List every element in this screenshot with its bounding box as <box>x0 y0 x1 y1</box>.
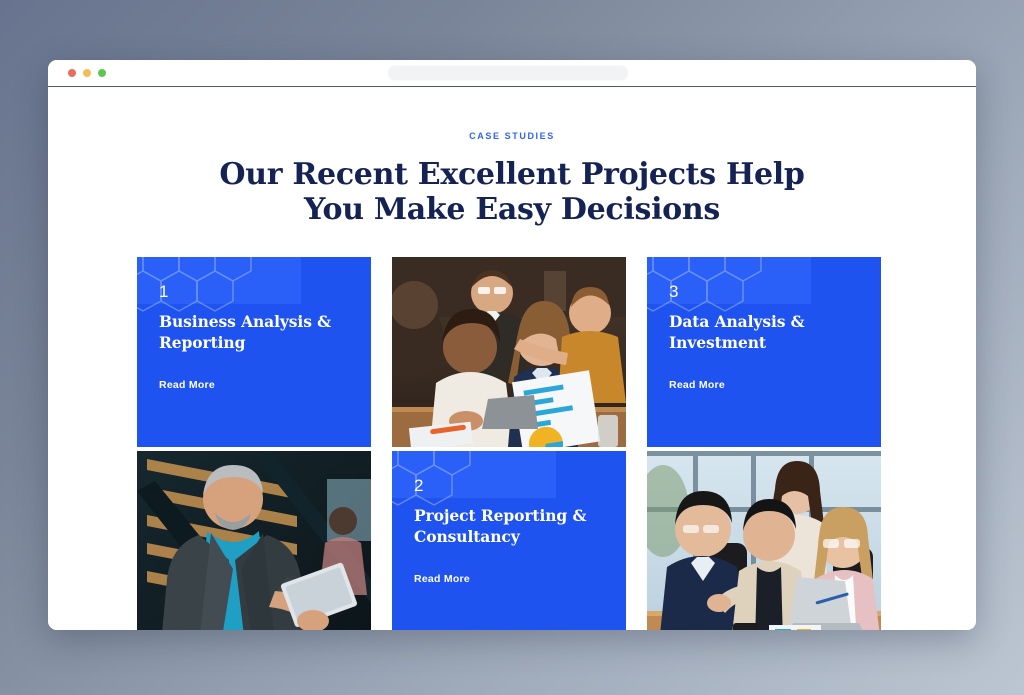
page-viewport: CASE STUDIES Our Recent Excellent Projec… <box>48 87 976 630</box>
maximize-window-icon[interactable] <box>98 69 106 77</box>
card-title: Business Analysis & Reporting <box>159 312 349 353</box>
read-more-link[interactable]: Read More <box>669 379 725 391</box>
case-study-photo-young-team <box>647 451 881 630</box>
case-study-card-1[interactable]: 1 Business Analysis & Reporting Read Mor… <box>137 257 371 447</box>
case-study-photo-businessman-tablet <box>137 451 371 630</box>
card-number: 3 <box>669 283 859 300</box>
card-number: 1 <box>159 283 349 300</box>
section-eyebrow: CASE STUDIES <box>48 131 976 141</box>
card-title: Data Analysis & Investment <box>669 312 859 353</box>
card-title: Project Reporting & Consultancy <box>414 506 604 547</box>
card-title-line-1: Business Analysis & <box>159 312 331 331</box>
card-title-line-2: Reporting <box>159 333 245 352</box>
traffic-lights <box>68 69 106 77</box>
page-title: Our Recent Excellent Projects Help You M… <box>48 157 976 227</box>
case-study-card-2[interactable]: 2 Project Reporting & Consultancy Read M… <box>392 451 626 630</box>
browser-chrome <box>48 60 976 87</box>
card-title-line-1: Data Analysis & <box>669 312 805 331</box>
case-study-card-3[interactable]: 3 Data Analysis & Investment Read More <box>647 257 881 447</box>
case-studies-grid: 1 Business Analysis & Reporting Read Mor… <box>137 257 887 630</box>
address-bar[interactable] <box>388 66 628 81</box>
read-more-link[interactable]: Read More <box>414 573 470 585</box>
card-title-line-1: Project Reporting & <box>414 506 586 525</box>
headline-line-1: Our Recent Excellent Projects Help <box>48 157 976 192</box>
browser-window: CASE STUDIES Our Recent Excellent Projec… <box>48 60 976 630</box>
card-number: 2 <box>414 477 604 494</box>
card-title-line-2: Consultancy <box>414 527 520 546</box>
headline-line-2: You Make Easy Decisions <box>48 192 976 227</box>
read-more-link[interactable]: Read More <box>159 379 215 391</box>
card-title-line-2: Investment <box>669 333 766 352</box>
minimize-window-icon[interactable] <box>83 69 91 77</box>
case-study-photo-team-meeting <box>392 257 626 447</box>
close-window-icon[interactable] <box>68 69 76 77</box>
